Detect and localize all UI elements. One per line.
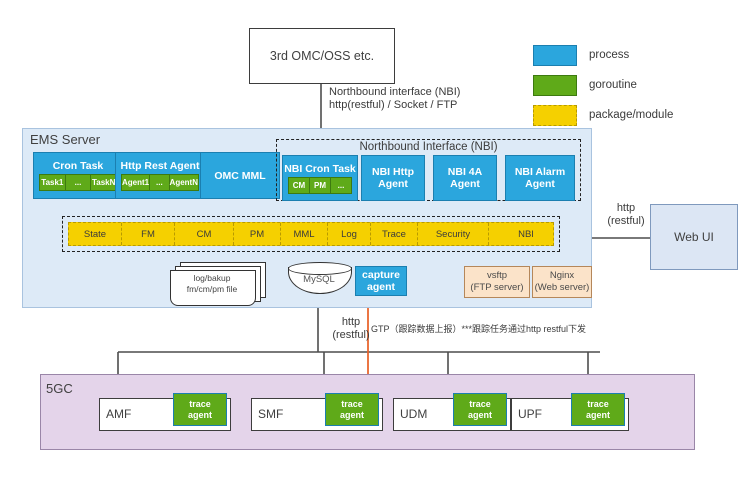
nf-amf-label: AMF <box>106 407 131 421</box>
goroutine-trace-agent-amf[interactable]: trace agent <box>173 393 227 426</box>
http-restful-link-label-line2: (restful) <box>325 329 377 342</box>
goroutine-agent-ellipsis: ... <box>149 174 168 191</box>
module-bar: State FM CM PM MML Log Trace Security NB… <box>68 222 554 246</box>
process-http-rest-agent-goroutines: Agent1 ... AgentN <box>121 174 199 191</box>
web-ui-link-label-line1: http <box>602 202 650 215</box>
nbi-link-label-line1: Northbound interface (NBI) <box>329 86 460 99</box>
process-nbi-cron-task-label: NBI Cron Task <box>283 163 357 175</box>
process-capture-agent[interactable]: capture agent <box>355 266 407 296</box>
file-store-stack: log/bakup fm/cm/pm file <box>170 262 266 304</box>
capture-agent-label-line1: capture <box>362 269 400 281</box>
legend-label-package: package/module <box>589 109 673 121</box>
goroutine-trace-agent-upf[interactable]: trace agent <box>571 393 625 426</box>
nf-udm[interactable]: UDM trace agent <box>393 398 511 431</box>
goroutine-task-ellipsis: ... <box>65 174 91 191</box>
web-ui-label: Web UI <box>674 230 714 244</box>
process-nbi-4a-agent-label: NBI 4A Agent <box>434 166 496 190</box>
third-party-omc-oss-box: 3rd OMC/OSS etc. <box>249 28 395 84</box>
nf-smf-label: SMF <box>258 407 283 421</box>
process-cron-task-label: Cron Task <box>34 160 122 172</box>
web-ui-link-label-line2: (restful) <box>602 215 650 228</box>
process-nbi-cron-task-goroutines: CM PM ... <box>288 177 352 194</box>
http-restful-link-label-line1: http <box>325 316 377 329</box>
trace-agent-upf-line2: agent <box>586 410 610 421</box>
process-omc-mml-label: OMC MML <box>201 170 279 182</box>
process-nbi-alarm-agent-label: NBI Alarm Agent <box>506 166 574 190</box>
legend-item-process: process <box>533 44 733 66</box>
gtp-note-label: GTP（跟踪数据上报）***跟踪任务通过http restful下发 <box>371 323 586 336</box>
process-nbi-http-agent-label: NBI Http Agent <box>362 166 424 190</box>
module-state[interactable]: State <box>69 223 122 245</box>
file-store-label: log/bakup fm/cm/pm file <box>170 273 254 295</box>
goroutine-agentn: AgentN <box>169 174 199 191</box>
module-log[interactable]: Log <box>328 223 371 245</box>
trace-agent-smf-line1: trace <box>341 399 363 410</box>
process-nbi-4a-agent[interactable]: NBI 4A Agent <box>433 155 497 201</box>
module-nbi[interactable]: NBI <box>489 223 563 245</box>
web-ui-box[interactable]: Web UI <box>650 204 738 270</box>
legend-item-package: package/module <box>533 104 733 126</box>
nf-upf-label: UPF <box>518 407 542 421</box>
legend-swatch-package <box>533 105 577 126</box>
trace-agent-upf-line1: trace <box>587 399 609 410</box>
server-vsftp-line2: (FTP server) <box>470 282 523 294</box>
legend: process goroutine package/module <box>533 44 733 134</box>
process-http-rest-agent-label: Http Rest Agent <box>116 160 204 172</box>
nbi-group-title: Northbound Interface (NBI) <box>276 141 581 153</box>
nf-amf[interactable]: AMF trace agent <box>99 398 231 431</box>
goroutine-nbi-ellipsis: ... <box>330 177 352 194</box>
goroutine-trace-agent-smf[interactable]: trace agent <box>325 393 379 426</box>
module-trace[interactable]: Trace <box>371 223 418 245</box>
web-ui-link-label: http (restful) <box>602 202 650 228</box>
server-nginx[interactable]: Nginx (Web server) <box>532 266 592 298</box>
goroutine-cm: CM <box>288 177 309 194</box>
nf-smf[interactable]: SMF trace agent <box>251 398 383 431</box>
nbi-link-label: Northbound interface (NBI) http(restful)… <box>329 86 460 112</box>
file-store-label-line1: log/bakup <box>170 273 254 284</box>
goroutine-task1: Task1 <box>39 174 65 191</box>
ems-server-title: EMS Server <box>30 132 100 147</box>
nbi-link-label-line2: http(restful) / Socket / FTP <box>329 99 460 112</box>
server-vsftp-line1: vsftp <box>487 270 507 282</box>
process-http-rest-agent[interactable]: Http Rest Agent Agent1 ... AgentN <box>115 152 205 199</box>
goroutine-trace-agent-udm[interactable]: trace agent <box>453 393 507 426</box>
trace-agent-amf-line2: agent <box>188 410 212 421</box>
process-nbi-alarm-agent[interactable]: NBI Alarm Agent <box>505 155 575 201</box>
trace-agent-udm-line2: agent <box>468 410 492 421</box>
goroutine-pm: PM <box>309 177 330 194</box>
nf-udm-label: UDM <box>400 407 427 421</box>
capture-agent-label-line2: agent <box>367 281 395 293</box>
file-store-label-line2: fm/cm/pm file <box>170 284 254 295</box>
process-omc-mml[interactable]: OMC MML <box>200 152 280 199</box>
module-pm[interactable]: PM <box>234 223 281 245</box>
mysql-label: MySQL <box>288 274 350 285</box>
legend-swatch-process <box>533 45 577 66</box>
trace-agent-smf-line2: agent <box>340 410 364 421</box>
module-fm[interactable]: FM <box>122 223 175 245</box>
process-nbi-http-agent[interactable]: NBI Http Agent <box>361 155 425 201</box>
legend-label-process: process <box>589 49 629 61</box>
legend-item-goroutine: goroutine <box>533 74 733 96</box>
gc-title: 5GC <box>46 381 73 396</box>
process-cron-task[interactable]: Cron Task Task1 ... TaskN <box>33 152 123 199</box>
legend-swatch-goroutine <box>533 75 577 96</box>
legend-label-goroutine: goroutine <box>589 79 637 91</box>
process-cron-task-goroutines: Task1 ... TaskN <box>39 174 117 191</box>
server-nginx-line2: (Web server) <box>535 282 590 294</box>
trace-agent-amf-line1: trace <box>189 399 211 410</box>
nf-upf[interactable]: UPF trace agent <box>511 398 629 431</box>
server-vsftp[interactable]: vsftp (FTP server) <box>464 266 530 298</box>
goroutine-agent1: Agent1 <box>121 174 149 191</box>
http-restful-link-label: http (restful) <box>325 316 377 342</box>
architecture-diagram: 3rd OMC/OSS etc. Northbound interface (N… <box>0 0 751 481</box>
module-mml[interactable]: MML <box>281 223 328 245</box>
goroutine-taskn: TaskN <box>90 174 117 191</box>
module-cm[interactable]: CM <box>175 223 234 245</box>
process-nbi-cron-task[interactable]: NBI Cron Task CM PM ... <box>282 155 358 201</box>
server-nginx-line1: Nginx <box>550 270 574 282</box>
trace-agent-udm-line1: trace <box>469 399 491 410</box>
third-party-omc-oss-label: 3rd OMC/OSS etc. <box>270 49 374 63</box>
mysql-database: MySQL <box>288 262 350 298</box>
module-security[interactable]: Security <box>418 223 489 245</box>
